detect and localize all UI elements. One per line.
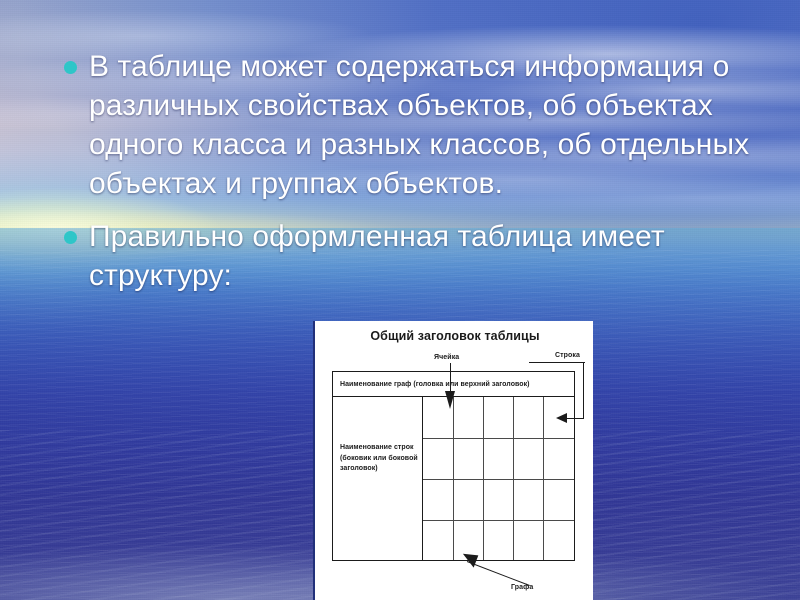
bullet-item-1: В таблице может содержаться информация о… bbox=[64, 47, 790, 203]
slide-canvas: В таблице может содержаться информация о… bbox=[0, 0, 800, 600]
grid-line-horizontal bbox=[423, 479, 574, 480]
bullet-text-1: В таблице может содержаться информация о… bbox=[89, 47, 790, 203]
cell-callout-arrow-head bbox=[445, 391, 455, 409]
bullet-text-2: Правильно оформленная таблица имеет стру… bbox=[89, 217, 790, 295]
diagram-side-column-label: Наименование строк (боковик или боковой … bbox=[340, 443, 418, 475]
bullet-item-2: Правильно оформленная таблица имеет стру… bbox=[64, 217, 790, 295]
diagram-content: Общий заголовок таблицы Ячейка Строка Гр… bbox=[315, 321, 593, 600]
diagram-title: Общий заголовок таблицы bbox=[315, 329, 593, 343]
column-callout-arrow-line bbox=[467, 561, 530, 586]
slide-body-text: В таблице может содержаться информация о… bbox=[64, 47, 790, 295]
grid-line-horizontal bbox=[423, 438, 574, 439]
grid-line-horizontal bbox=[423, 520, 574, 521]
callout-label-row: Строка bbox=[555, 352, 580, 359]
callout-label-cell: Ячейка bbox=[434, 354, 459, 361]
bullet-dot-icon bbox=[64, 61, 77, 74]
row-callout-arrow-line-side bbox=[583, 362, 584, 419]
diagram-header-row-label: Наименование граф (головка или верхний з… bbox=[333, 381, 530, 388]
diagram-table-side-column: Наименование строк (боковик или боковой … bbox=[333, 397, 423, 560]
row-callout-arrow-head bbox=[556, 413, 567, 423]
cell-callout-arrow-line bbox=[450, 363, 451, 393]
bullet-dot-icon bbox=[64, 231, 77, 244]
table-structure-diagram: Общий заголовок таблицы Ячейка Строка Гр… bbox=[313, 321, 593, 600]
diagram-table-grid bbox=[423, 397, 574, 560]
row-callout-arrow-line-bottom bbox=[565, 418, 584, 419]
row-callout-arrow-line-top bbox=[529, 362, 585, 363]
callout-label-column: Графа bbox=[511, 584, 533, 591]
